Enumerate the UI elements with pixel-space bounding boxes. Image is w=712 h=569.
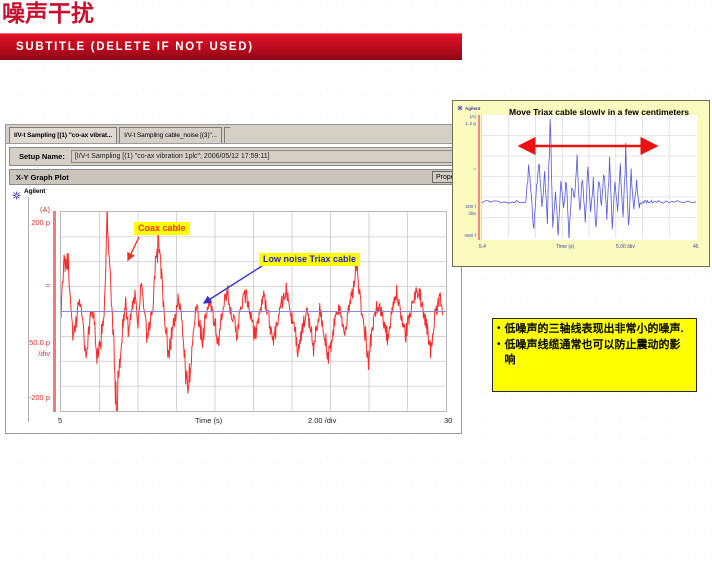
bullet-text: 低噪声线缆通常也可以防止震动的影响 [505, 338, 690, 368]
y-axis-div-label: 50.0 p [6, 338, 50, 347]
inset-agilent-brand: Agilent [457, 105, 480, 111]
inset-plot-canvas [482, 115, 696, 238]
inset-y-axis-min-label: -500 f [454, 234, 476, 239]
bullet-marker-icon: • [497, 322, 501, 335]
annotation-coax-cable: Coax cable [134, 222, 190, 235]
bullet-callout-box: • 低噪声的三轴线表现出非常小的噪声. • 低噪声线缆通常也可以防止震动的影响 [492, 318, 697, 392]
plot-grid-box [60, 211, 447, 412]
x-axis-div-label: 2.00 /div [308, 416, 336, 425]
list-item: • 低噪声的三轴线表现出非常小的噪声. [497, 322, 690, 337]
agilent-brand: Agilent [12, 187, 45, 196]
inset-triax-measurement-figure: Agilent Move Triax cable slowly in a few… [452, 100, 710, 267]
bullet-marker-icon: • [497, 338, 501, 351]
tab-iv-t-sampling-coax[interactable]: I/V-t Sampling [(1) "co-ax vibrat... [9, 127, 117, 143]
inset-x-axis-min-label: 5.4 [479, 244, 486, 250]
y-axis-max-label: 200 p [6, 218, 50, 227]
inset-x-axis-max-label: 45 [693, 244, 699, 250]
list-item: • 低噪声线缆通常也可以防止震动的影响 [497, 338, 690, 368]
app-window-content: I/V-t Sampling [(1) "co-ax vibrat... I/V… [6, 125, 461, 433]
agilent-wordmark: Agilent [24, 188, 45, 195]
inset-y-axis-max-label: 1.2 p [454, 122, 476, 127]
x-axis-min-label: 5 [58, 416, 62, 425]
slide-canvas: 噪声干扰 SUBTITLE (DELETE IF NOT USED) I/V-t… [0, 0, 712, 569]
subtitle-banner: SUBTITLE (DELETE IF NOT USED) [0, 33, 462, 60]
inset-agilent-wordmark: Agilent [465, 106, 480, 111]
tab-iv-t-sampling-cable-noise[interactable]: I/V-t Sampling cable_noise [(3)"... [119, 127, 222, 143]
y-axis-min-label: -200 p [6, 393, 50, 402]
inset-x-axis-title: Time (s) [556, 244, 574, 250]
page-title: 噪声干扰 [2, 0, 94, 28]
plot-canvas [61, 212, 446, 411]
subtitle-text: SUBTITLE (DELETE IF NOT USED) [0, 41, 254, 53]
tab-strip-filler [224, 127, 230, 143]
tab-bar: I/V-t Sampling [(1) "co-ax vibrat... I/V… [6, 125, 461, 144]
tab-label: I/V-t Sampling cable_noise [(3)"... [124, 132, 217, 139]
inset-plot-grid-box [481, 115, 697, 240]
y-axis-div-unit: /div [6, 349, 50, 358]
inset-y-axis-bar [478, 115, 480, 240]
agilent-starburst-icon [457, 105, 463, 111]
plot-header-bar: X-Y Graph Plot Prope... [9, 169, 460, 185]
agilent-starburst-icon [12, 187, 21, 196]
y-axis-unit-label: (A) [6, 205, 50, 214]
inset-y-axis-unit-label: (A) [454, 115, 476, 120]
agilent-app-window: I/V-t Sampling [(1) "co-ax vibrat... I/V… [5, 124, 462, 434]
setup-name-field[interactable]: [I/V-t Sampling [(1) "co-ax vibration 1p… [71, 150, 457, 163]
bullet-text: 低噪声的三轴线表现出非常小的噪声. [505, 322, 684, 337]
setup-name-label: Setup Name: [10, 152, 71, 161]
x-axis-title: Time (s) [195, 416, 222, 425]
xy-graph-plot: (A) 200 p = 50.0 p /div -200 p [6, 197, 462, 433]
inset-y-axis-mid-label: = [454, 167, 476, 172]
setup-name-row: Setup Name: [I/V-t Sampling [(1) "co-ax … [9, 147, 460, 166]
inset-y-axis-div-unit: /div [454, 212, 476, 217]
tab-label: I/V-t Sampling [(1) "co-ax vibrat... [14, 132, 112, 139]
plot-header-title: X-Y Graph Plot [10, 173, 69, 182]
x-axis-max-label: 30 [444, 416, 452, 425]
inset-x-axis-div-label: 5.00 /div [616, 244, 635, 250]
annotation-low-noise-triax-cable: Low noise Triax cable [259, 253, 360, 266]
inset-y-axis-div-label: 200 f [454, 205, 476, 210]
y-axis-mid-label: = [6, 281, 50, 290]
plot-left-rule [28, 197, 29, 422]
y-axis-bar [53, 211, 56, 412]
